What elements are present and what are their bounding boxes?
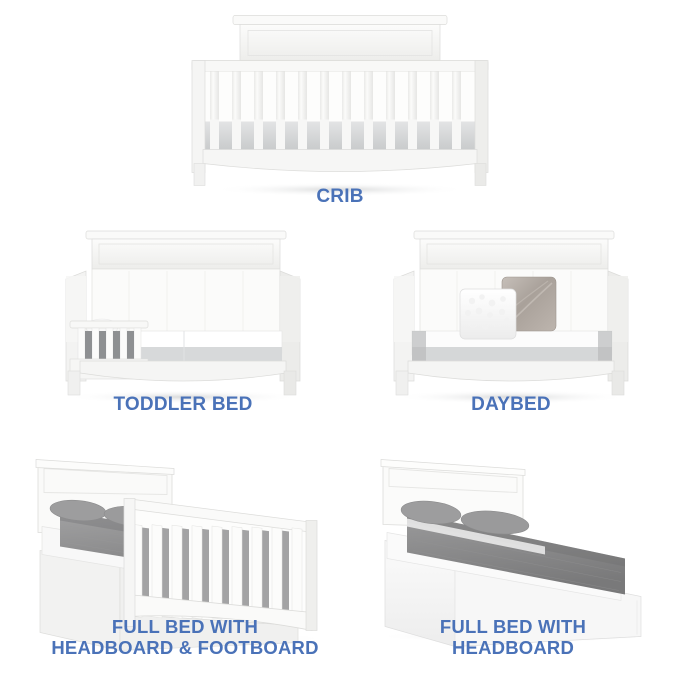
conversion-chart: CRIB — [0, 0, 679, 679]
crib-crown-molding — [233, 16, 447, 25]
toddler-guardrail-top — [70, 321, 148, 328]
white-textured-pillow — [460, 289, 516, 339]
toddler-leg-right — [284, 371, 296, 395]
toddler-leg-left — [68, 371, 80, 395]
caption-toddler-bed: TODDLER BED — [28, 394, 338, 416]
caption-full-bed-headboard: FULL BED WITH HEADBOARD — [355, 616, 671, 659]
product-figure-full-bed-headboard: FULL BED WITH HEADBOARD — [355, 428, 671, 676]
crib-arched-base-rail — [203, 150, 477, 172]
daybed-headboard-panel — [420, 239, 608, 269]
product-figure-crib: CRIB — [170, 2, 510, 210]
daybed-mattress-side-right — [598, 331, 612, 363]
daybed-side-rail-left — [394, 276, 414, 342]
caption-daybed: DAYBED — [356, 394, 666, 416]
caption-full-bed-headboard-footboard: FULL BED WITH HEADBOARD & FOOTBOARD — [20, 616, 350, 659]
crib-headboard-panel — [240, 25, 440, 61]
crib-leg-right — [475, 164, 486, 186]
caption-line-1: FULL BED WITH — [112, 616, 258, 637]
crib-leg-left — [194, 164, 205, 186]
product-figure-daybed: DAYBED — [356, 212, 666, 430]
caption-crib: CRIB — [170, 186, 510, 208]
caption-line-2: HEADBOARD — [452, 637, 574, 658]
toddler-side-rail-right — [280, 276, 300, 342]
product-figure-toddler-bed: TODDLER BED — [28, 212, 338, 430]
toddler-headboard-panel — [92, 239, 280, 269]
daybed-arched-base-rail — [408, 361, 614, 381]
product-figure-full-bed-headboard-footboard: FULL BED WITH HEADBOARD & FOOTBOARD — [20, 428, 350, 676]
daybed-mattress-skirt — [412, 347, 612, 363]
crib-top-rail — [192, 61, 488, 72]
toddler-crown-molding — [86, 231, 286, 239]
daybed-leg-left — [396, 371, 408, 395]
caption-line-1: FULL BED WITH — [440, 616, 586, 637]
crib-illustration — [170, 2, 510, 210]
caption-line-2: HEADBOARD & FOOTBOARD — [51, 637, 318, 658]
full-bed-hf-footboard-post-left — [124, 499, 135, 627]
daybed-leg-right — [612, 371, 624, 395]
full-bed-hf-footboard-post-right — [306, 521, 317, 631]
daybed-mattress-side-left — [412, 331, 426, 363]
daybed-crown-molding — [414, 231, 614, 239]
